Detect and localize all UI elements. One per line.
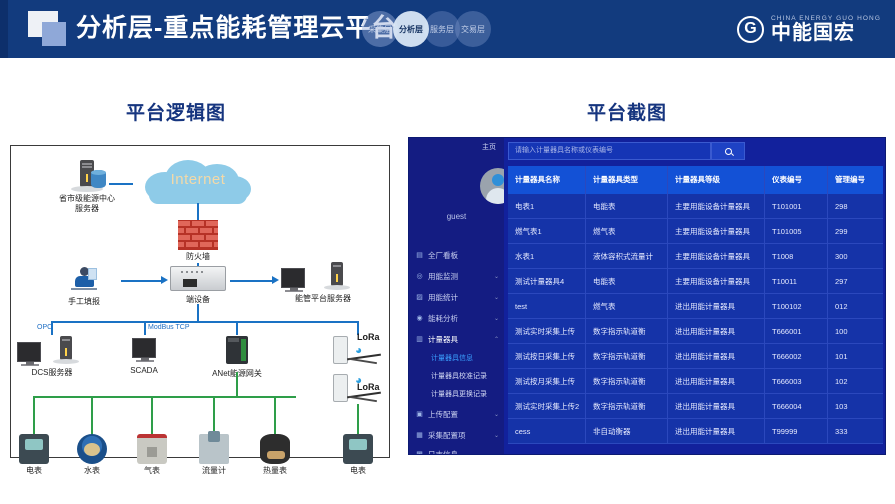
cell-device-type: 数字指示轨道衡 [586, 369, 668, 394]
search-bar: 请输入计量器具名称或仪表编号 [508, 142, 745, 160]
brand-text: CHINA ENERGY GUO HONG 中能国宏 [771, 15, 881, 43]
cell-device-name: 测试计量器具4 [508, 269, 586, 294]
sidebar-item-dashboard[interactable]: ▤ 全厂看板 [415, 245, 499, 266]
cell-device-grade: 主要用能设备计量器具 [668, 219, 765, 244]
meter-electric-1: 电表 [7, 434, 61, 476]
metering-devices-table: 计量器具名称 计量器具类型 计量器具等级 仪表编号 管理编号 电表1 电能表 主… [508, 166, 883, 444]
cell-device-grade: 进出用能计量器具 [668, 419, 765, 444]
cell-manage-no: 297 [828, 269, 883, 294]
analysis-icon: ◉ [415, 314, 424, 323]
meter-device-icon: ▥ [415, 335, 424, 344]
app-sidebar: 主页 guest ▤ 全厂看板 ◎ 用能监测 ⌄ ▨ 用能统计 ⌄ [409, 138, 504, 455]
node-dcs-server: DCS服务器 [17, 336, 87, 378]
meter-gas: 气表 [125, 434, 179, 476]
sidebar-item-energy-analysis[interactable]: ◉ 能耗分析 ⌄ [415, 308, 499, 329]
sidebar-item-energy-statistics[interactable]: ▨ 用能统计 ⌄ [415, 287, 499, 308]
cell-meter-no: T666003 [765, 369, 828, 394]
sidebar-username: guest [409, 212, 504, 221]
log-icon: ▩ [415, 450, 424, 455]
cell-device-name: 水表1 [508, 244, 586, 269]
chevron-up-icon: ⌃ [494, 336, 499, 343]
meter-flow: 流量计 [187, 434, 241, 476]
cell-device-name: 测试实时采集上传2 [508, 394, 586, 419]
cell-device-name: 测试按月采集上传 [508, 369, 586, 394]
meter-label: 电表 [7, 466, 61, 476]
monitor-icon: ◎ [415, 272, 424, 281]
cell-device-type: 电能表 [586, 194, 668, 219]
sidebar-item-collection-config[interactable]: ▦ 采集配置项 ⌄ [415, 425, 499, 446]
node-scada: SCADA [114, 338, 174, 376]
cell-manage-no: 012 [828, 294, 883, 319]
node-lora-device-top: LoRa ◕ [333, 334, 385, 368]
electric-meter-icon [343, 434, 373, 464]
meter-heat: 热量表 [248, 434, 302, 476]
search-icon [725, 148, 732, 155]
sidebar-item-label: 计量器具 [428, 334, 494, 345]
table-row[interactable]: 测试实时采集上传 数字指示轨道衡 进出用能计量器具 T666001 100 [508, 319, 883, 344]
cell-device-name: 燃气表1 [508, 219, 586, 244]
node-label: SCADA [114, 366, 174, 376]
water-meter-icon [77, 434, 107, 464]
cell-device-grade: 进出用能计量器具 [668, 394, 765, 419]
cell-meter-no: T666002 [765, 344, 828, 369]
arrow-icon [272, 276, 279, 284]
link-label-modbus: ModBus TCP [148, 324, 190, 331]
cell-meter-no: T666001 [765, 319, 828, 344]
stage-label: 分析层 [399, 24, 423, 35]
wire-internet-to-firewall [197, 203, 199, 220]
wire-edge-down [197, 304, 199, 321]
column-header-manage-no[interactable]: 管理编号 [828, 166, 883, 194]
cell-device-type: 数字指示轨道衡 [586, 319, 668, 344]
cell-device-name: cess [508, 419, 586, 444]
node-platform-server: 能管平台服务器 [281, 262, 365, 304]
table-header-row: 计量器具名称 计量器具类型 计量器具等级 仪表编号 管理编号 [508, 166, 883, 194]
node-label: 服务器 [47, 204, 127, 214]
cell-device-type: 非自动衡器 [586, 419, 668, 444]
brand-name-en: CHINA ENERGY GUO HONG [771, 15, 881, 22]
platform-screenshot: 主页 guest ▤ 全厂看板 ◎ 用能监测 ⌄ ▨ 用能统计 ⌄ [408, 137, 886, 455]
gas-meter-icon [137, 434, 167, 464]
manual-entry-person-icon [71, 266, 97, 292]
app-content: 请输入计量器具名称或仪表编号 计量器具名称 计量器具类型 计量器具等级 仪表编号… [504, 138, 886, 455]
upload-config-icon: ▣ [415, 410, 424, 419]
stage-circle-analysis-active[interactable]: 分析层 [393, 11, 429, 47]
cell-meter-no: T100102 [765, 294, 828, 319]
sidebar-item-label: 上传配置 [428, 409, 494, 420]
search-input[interactable]: 请输入计量器具名称或仪表编号 [508, 142, 711, 160]
internet-cloud-icon: Internet [139, 158, 257, 204]
table-row[interactable]: 燃气表1 燃气表 主要用能设备计量器具 T101005 299 [508, 219, 883, 244]
column-header-meter-no[interactable]: 仪表编号 [765, 166, 828, 194]
meter-label: 电表 [331, 466, 385, 476]
dashboard-icon: ▤ [415, 251, 424, 260]
cell-device-grade: 进出用能计量器具 [668, 294, 765, 319]
meter-label: 气表 [125, 466, 179, 476]
table-row[interactable]: test 燃气表 进出用能计量器具 T100102 012 [508, 294, 883, 319]
cell-device-grade: 进出用能计量器具 [668, 319, 765, 344]
node-label: 省市级能源中心 [47, 194, 127, 204]
cell-meter-no: T99999 [765, 419, 828, 444]
sidebar-item-upload-config[interactable]: ▣ 上传配置 ⌄ [415, 404, 499, 425]
cell-device-name: 电表1 [508, 194, 586, 219]
collect-config-icon: ▦ [415, 431, 424, 440]
sidebar-subitem-device-info[interactable]: 计量器具信息 [431, 349, 501, 367]
sidebar-subitem-replacement-records[interactable]: 计量器具更换记录 [431, 385, 501, 403]
slide-root: 分析层-重点能耗管理云平台 采集层 服务层 交易层 分析层 G CHINA EN… [0, 0, 895, 504]
firewall-icon [178, 220, 218, 250]
sidebar-item-energy-monitor[interactable]: ◎ 用能监测 ⌄ [415, 266, 499, 287]
meter-electric-2: 电表 [331, 434, 385, 476]
column-header-device-name[interactable]: 计量器具名称 [508, 166, 586, 194]
node-manual-entry: 手工填报 [49, 266, 119, 307]
flow-meter-icon [199, 434, 229, 464]
sidebar-subitem-calibration-records[interactable]: 计量器具校准记录 [431, 367, 501, 385]
server-tower-icon [58, 336, 74, 362]
database-icon [91, 170, 106, 188]
link-label-opc: OPC [37, 324, 52, 331]
chevron-down-icon: ⌄ [494, 432, 499, 439]
sidebar-item-metering-devices[interactable]: ▥ 计量器具 ⌃ [415, 329, 499, 350]
chevron-down-icon: ⌄ [494, 411, 499, 418]
table-body: 电表1 电能表 主要用能设备计量器具 T101001 298 燃气表1 燃气表 … [508, 194, 883, 444]
column-header-device-type[interactable]: 计量器具类型 [586, 166, 668, 194]
cell-device-name: 测试按日采集上传 [508, 344, 586, 369]
left-panel-title: 平台逻辑图 [126, 98, 226, 125]
arrow-icon [161, 276, 168, 284]
cell-manage-no: 101 [828, 344, 883, 369]
sidebar-item-label: 能耗分析 [428, 313, 494, 324]
cell-device-type: 数字指示轨道衡 [586, 394, 668, 419]
wire-manual-to-edge [121, 280, 163, 282]
sidebar-item-label: 采集配置项 [428, 430, 494, 441]
internet-label: Internet [139, 171, 257, 188]
wire-meter-backbone [33, 396, 296, 398]
meter-label: 水表 [65, 466, 119, 476]
page-header: 分析层-重点能耗管理云平台 采集层 服务层 交易层 分析层 G CHINA EN… [0, 0, 895, 58]
cell-manage-no: 333 [828, 419, 883, 444]
node-label: 手工填报 [49, 297, 119, 307]
table-row[interactable]: 水表1 液体容积式流量计 主要用能设备计量器具 T1008 300 [508, 244, 883, 269]
page-title: 分析层-重点能耗管理云平台 [76, 11, 397, 45]
cell-manage-no: 298 [828, 194, 883, 219]
right-panel-title: 平台截图 [587, 98, 667, 125]
wire-backbone-horizontal [51, 321, 359, 323]
server-tower-icon [329, 262, 345, 288]
column-header-device-grade[interactable]: 计量器具等级 [668, 166, 765, 194]
sidebar-home-link[interactable]: 主页 [482, 142, 496, 152]
cell-device-grade: 主要用能设备计量器具 [668, 194, 765, 219]
node-label: 防火墙 [177, 252, 219, 262]
cell-manage-no: 102 [828, 369, 883, 394]
architecture-diagram: Internet 省市级能源中心 服务器 [10, 145, 390, 458]
node-lora-device-bottom: ◕ LoRa [333, 372, 385, 406]
wire-edge-to-platform [230, 280, 274, 282]
cell-meter-no: T10011 [765, 269, 828, 294]
wire-gateway-down [236, 372, 238, 396]
chevron-down-icon: ⌄ [494, 294, 499, 301]
cell-meter-no: T101001 [765, 194, 828, 219]
chevron-down-icon: ⌄ [494, 273, 499, 280]
table-row[interactable]: 测试计量器具4 电能表 主要用能设备计量器具 T10011 297 [508, 269, 883, 294]
cell-device-type: 燃气表 [586, 294, 668, 319]
monitor-icon [17, 342, 41, 362]
meter-label: 热量表 [248, 466, 302, 476]
wire-center-to-internet [109, 183, 133, 185]
sidebar-item-log-info[interactable]: ▩ 日志信息 ⌄ [415, 444, 499, 455]
brand-name-cn: 中能国宏 [771, 23, 881, 43]
table-row[interactable]: 测试按日采集上传 数字指示轨道衡 进出用能计量器具 T666002 101 [508, 344, 883, 369]
node-edge-device: 端设备 [170, 266, 226, 305]
node-label: DCS服务器 [17, 368, 87, 378]
brand-logo: G CHINA ENERGY GUO HONG 中能国宏 [737, 12, 881, 46]
cell-meter-no: T101005 [765, 219, 828, 244]
header-accent-bar [0, 0, 8, 58]
cell-device-grade: 主要用能设备计量器具 [668, 244, 765, 269]
cell-manage-no: 100 [828, 319, 883, 344]
lora-label: LoRa [357, 332, 380, 342]
stage-circle-group: 采集层 服务层 交易层 分析层 [362, 11, 502, 47]
sidebar-item-label: 全厂看板 [428, 250, 499, 261]
stage-label: 服务层 [430, 24, 454, 35]
cell-device-grade: 主要用能设备计量器具 [668, 269, 765, 294]
gateway-device-icon [226, 336, 248, 364]
meter-water: 水表 [65, 434, 119, 476]
cell-manage-no: 103 [828, 394, 883, 419]
lora-label: LoRa [357, 382, 380, 392]
monitor-icon [132, 338, 156, 358]
heat-meter-icon [260, 434, 290, 464]
cell-meter-no: T666004 [765, 394, 828, 419]
sidebar-item-label: 用能统计 [428, 292, 494, 303]
chevron-down-icon: ⌄ [494, 315, 499, 322]
cell-device-name: 测试实时采集上传 [508, 319, 586, 344]
cell-device-type: 燃气表 [586, 219, 668, 244]
table-row[interactable]: cess 非自动衡器 进出用能计量器具 T99999 333 [508, 419, 883, 444]
stage-label: 交易层 [461, 24, 485, 35]
sidebar-item-label: 用能监测 [428, 271, 494, 282]
server-tower-icon [77, 160, 97, 190]
wire-drop-scada [144, 321, 146, 335]
edge-device-icon [170, 266, 226, 291]
cell-device-type: 液体容积式流量计 [586, 244, 668, 269]
stage-circle-trade[interactable]: 交易层 [455, 11, 491, 47]
search-button[interactable] [711, 142, 745, 160]
cell-device-type: 数字指示轨道衡 [586, 344, 668, 369]
sidebar-item-label: 日志信息 [428, 449, 494, 455]
node-provincial-center-server: 省市级能源中心 服务器 [47, 160, 127, 214]
node-label: 能管平台服务器 [281, 294, 365, 304]
chevron-down-icon: ⌄ [494, 451, 499, 455]
wifi-signal-icon: ◕ [355, 343, 362, 357]
cell-device-name: test [508, 294, 586, 319]
cell-device-grade: 进出用能计量器具 [668, 344, 765, 369]
company-logo-icon: G [737, 16, 764, 43]
electric-meter-icon [19, 434, 49, 464]
table-row[interactable]: 测试实时采集上传2 数字指示轨道衡 进出用能计量器具 T666004 103 [508, 394, 883, 419]
table-row[interactable]: 电表1 电能表 主要用能设备计量器具 T101001 298 [508, 194, 883, 219]
meter-label: 流量计 [187, 466, 241, 476]
logo-square-blue-icon [42, 22, 66, 46]
cell-manage-no: 300 [828, 244, 883, 269]
node-firewall: 防火墙 [177, 220, 219, 262]
cell-device-type: 电能表 [586, 269, 668, 294]
wire-drop-gateway [236, 321, 238, 335]
cell-manage-no: 299 [828, 219, 883, 244]
monitor-icon [281, 268, 305, 288]
stage-label: 采集层 [368, 24, 392, 35]
statistics-icon: ▨ [415, 293, 424, 302]
table-row[interactable]: 测试按月采集上传 数字指示轨道衡 进出用能计量器具 T666003 102 [508, 369, 883, 394]
slide-body: 平台逻辑图 平台截图 Internet 省市级能源中心 [0, 58, 895, 504]
cell-device-grade: 进出用能计量器具 [668, 369, 765, 394]
cell-meter-no: T1008 [765, 244, 828, 269]
